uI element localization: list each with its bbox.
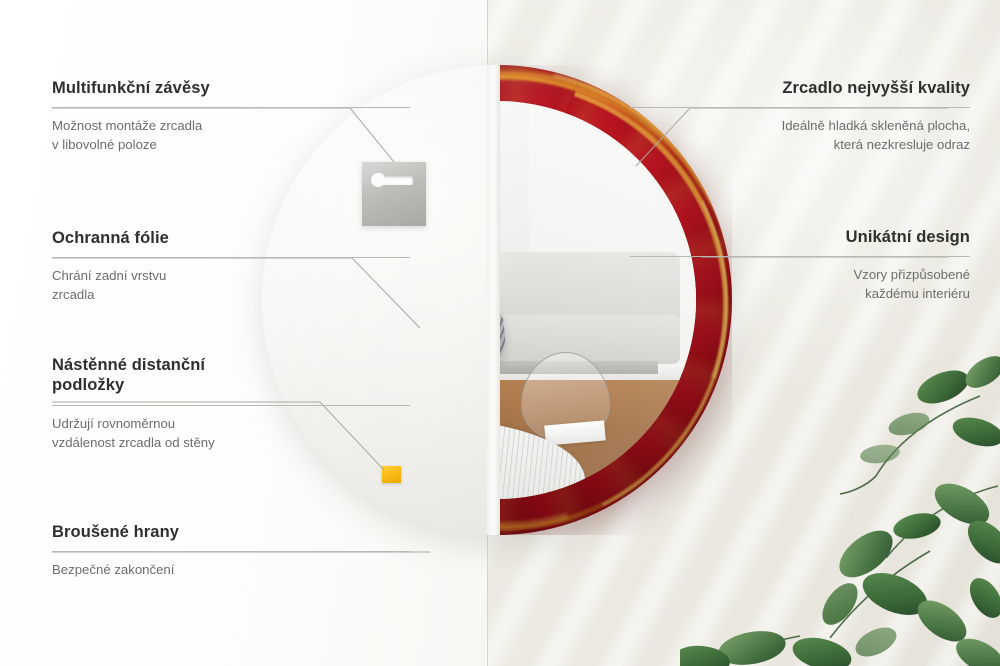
callout-ground-edges: Broušené hrany Bezpečné zakončení — [52, 522, 410, 580]
desc-line-1: Bezpečné zakončení — [52, 562, 174, 577]
callout-protective-film: Ochranná fólie Chrání zadní vrstvu zrcad… — [52, 228, 410, 305]
callout-description: Ideálně hladká skleněná plocha, která ne… — [630, 117, 970, 154]
title-line-1: Nástěnné distanční — [52, 356, 205, 374]
infographic-canvas: Multifunkční závěsy Možnost montáže zrca… — [0, 0, 1000, 666]
title-line-2: podložky — [52, 376, 124, 394]
desc-line-2: která nezkresluje odraz — [834, 137, 970, 152]
callout-title: Broušené hrany — [52, 522, 410, 542]
callout-rule — [630, 107, 970, 108]
desc-line-1: Ideálně hladká skleněná plocha, — [782, 118, 970, 133]
desc-line-2: zrcadla — [52, 287, 95, 302]
desc-line-2: vzdálenost zrcadla od stěny — [52, 435, 215, 450]
callout-rule — [52, 405, 410, 406]
callout-title: Multifunkční závěsy — [52, 78, 410, 98]
desc-line-2: v libovolné poloze — [52, 137, 157, 152]
desc-line-2: každému interiéru — [865, 286, 970, 301]
callout-quality-mirror: Zrcadlo nejvyšší kvality Ideálně hladká … — [630, 78, 970, 155]
callout-description: Vzory přizpůsobené každému interiéru — [630, 266, 970, 303]
callout-title: Nástěnné distanční podložky — [52, 355, 410, 396]
hanger-keyhole-slot — [373, 176, 413, 185]
foliage-decoration — [680, 336, 1000, 666]
hanger-bracket — [362, 162, 426, 226]
callout-hangers: Multifunkční závěsy Možnost montáže zrca… — [52, 78, 410, 155]
wall-spacer-pad — [382, 466, 401, 483]
desc-line-1: Udržují rovnoměrnou — [52, 416, 175, 431]
callout-rule — [52, 551, 410, 552]
callout-title: Zrcadlo nejvyšší kvality — [630, 78, 970, 98]
callout-description: Chrání zadní vrstvu zrcadla — [52, 267, 410, 304]
desc-line-1: Vzory přizpůsobené — [853, 267, 970, 282]
callout-title: Unikátní design — [630, 227, 970, 247]
desc-line-1: Chrání zadní vrstvu — [52, 268, 166, 283]
desc-line-1: Možnost montáže zrcadla — [52, 118, 202, 133]
callout-rule — [630, 256, 970, 257]
callout-rule — [52, 107, 410, 108]
mirror-edge-band — [487, 65, 500, 535]
callout-rule — [52, 257, 410, 258]
callout-unique-design: Unikátní design Vzory přizpůsobené každé… — [630, 227, 970, 304]
callout-wall-spacers: Nástěnné distanční podložky Udržují rovn… — [52, 355, 410, 452]
callout-description: Udržují rovnoměrnou vzdálenost zrcadla o… — [52, 415, 410, 452]
callout-description: Možnost montáže zrcadla v libovolné polo… — [52, 117, 410, 154]
callout-title: Ochranná fólie — [52, 228, 410, 248]
callout-description: Bezpečné zakončení — [52, 561, 410, 580]
